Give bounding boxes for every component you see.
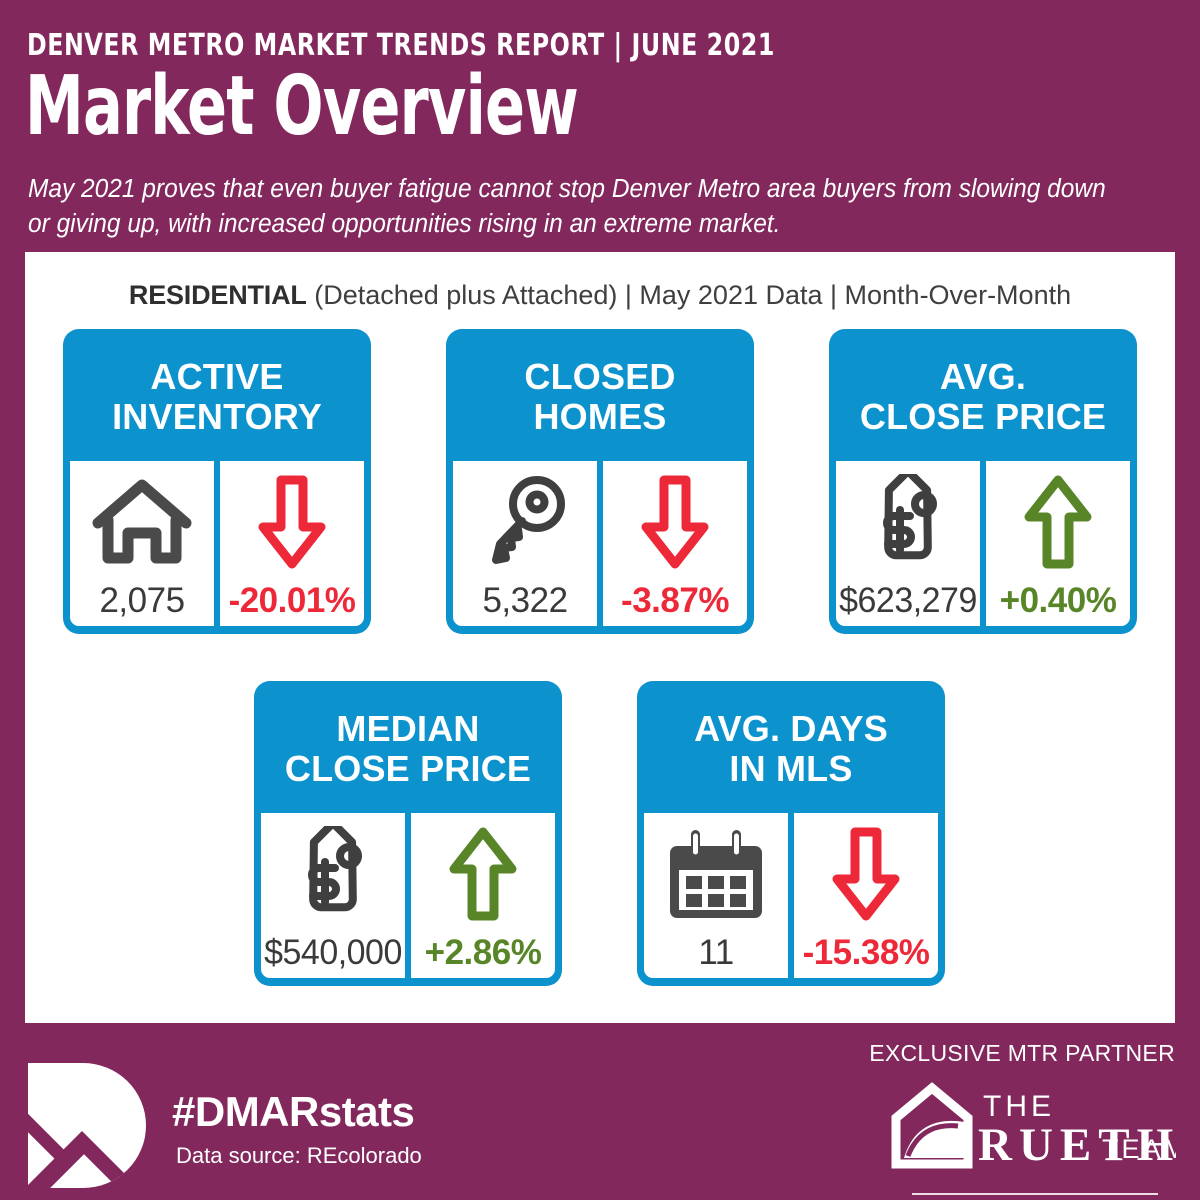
card-body: $540,000 +2.86% xyxy=(261,813,555,978)
card-body: 11 -15.38% xyxy=(644,813,938,978)
page-title: Market Overview xyxy=(25,66,578,148)
card-title: ACTIVE INVENTORY xyxy=(63,329,371,461)
card-value: 2,075 xyxy=(99,583,184,618)
panel-subtitle-strong: RESIDENTIAL xyxy=(129,280,307,310)
card-change-cell: -3.87% xyxy=(603,461,747,626)
card-value: $623,279 xyxy=(839,583,977,618)
card-change-cell: -15.38% xyxy=(794,813,938,978)
infographic-canvas: DENVER METRO MARKET TRENDS REPORT | JUNE… xyxy=(0,0,1200,1200)
card-value-cell: 2,075 xyxy=(70,461,214,626)
header-deck: May 2021 proves that even buyer fatigue … xyxy=(28,172,1113,242)
card-value-cell: 5,322 xyxy=(453,461,597,626)
arrow-up-icon xyxy=(411,813,555,935)
svg-text:TEAM: TEAM xyxy=(1102,1134,1176,1164)
card-title: CLOSED HOMES xyxy=(446,329,754,461)
partner-label: EXCLUSIVE MTR PARTNER xyxy=(869,1040,1175,1067)
card-title: AVG. CLOSE PRICE xyxy=(829,329,1137,461)
card-value: $540,000 xyxy=(264,935,402,970)
card-title: AVG. DAYS IN MLS xyxy=(637,681,945,813)
card-title-line2: INVENTORY xyxy=(112,397,322,437)
arrow-down-icon xyxy=(220,461,364,583)
card-title-line1: AVG. DAYS xyxy=(694,709,888,749)
card-change: -20.01% xyxy=(229,583,356,618)
arrow-up-icon xyxy=(986,461,1130,583)
card-value-cell: $623,279 xyxy=(836,461,980,626)
card-change-cell: +2.86% xyxy=(411,813,555,978)
card-change: +0.40% xyxy=(1000,583,1117,618)
card-change: -3.87% xyxy=(621,583,729,618)
card-title-line2: IN MLS xyxy=(729,749,852,789)
price-tag-icon xyxy=(261,813,405,935)
card-body: $623,279 +0.40% xyxy=(836,461,1130,626)
stat-card-avg-days-in-mls: AVG. DAYS IN MLS xyxy=(637,681,945,986)
card-body: 2,075 -20.01% xyxy=(70,461,364,626)
panel-subtitle: RESIDENTIAL (Detached plus Attached) | M… xyxy=(25,280,1175,311)
card-title: MEDIAN CLOSE PRICE xyxy=(254,681,562,813)
dmar-logo-icon xyxy=(28,1063,146,1193)
stat-card-median-close-price: MEDIAN CLOSE PRICE xyxy=(254,681,562,986)
hashtag-label: #DMARstats xyxy=(172,1088,414,1136)
card-change: -15.38% xyxy=(803,935,930,970)
stat-card-closed-homes: CLOSED HOMES 5,322 xyxy=(446,329,754,634)
card-title-line1: CLOSED xyxy=(524,357,675,397)
card-change-cell: +0.40% xyxy=(986,461,1130,626)
card-body: 5,322 -3.87% xyxy=(453,461,747,626)
card-value: 11 xyxy=(698,935,733,970)
card-value: 5,322 xyxy=(482,583,567,618)
report-kicker: DENVER METRO MARKET TRENDS REPORT | JUNE… xyxy=(27,28,775,63)
card-change: +2.86% xyxy=(425,935,542,970)
house-icon xyxy=(70,461,214,583)
rueth-house-icon xyxy=(896,1088,968,1164)
card-title-line1: MEDIAN xyxy=(336,709,479,749)
stat-card-avg-close-price: AVG. CLOSE PRICE xyxy=(829,329,1137,634)
card-title-line2: HOMES xyxy=(533,397,666,437)
stat-card-active-inventory: ACTIVE INVENTORY 2,075 xyxy=(63,329,371,634)
key-icon xyxy=(453,461,597,583)
panel-subtitle-rest: (Detached plus Attached) | May 2021 Data… xyxy=(307,280,1071,310)
calendar-icon xyxy=(644,813,788,935)
card-title-line2: CLOSE PRICE xyxy=(285,749,531,789)
card-value-cell: $540,000 xyxy=(261,813,405,978)
card-title-line2: CLOSE PRICE xyxy=(860,397,1106,437)
card-title-line1: ACTIVE xyxy=(150,357,283,397)
price-tag-icon xyxy=(836,461,980,583)
card-change-cell: -20.01% xyxy=(220,461,364,626)
card-title-line1: AVG. xyxy=(940,357,1026,397)
card-value-cell: 11 xyxy=(644,813,788,978)
data-source-label: Data source: REcolorado xyxy=(176,1143,422,1169)
stats-panel: RESIDENTIAL (Detached plus Attached) | M… xyxy=(25,252,1175,1023)
arrow-down-icon xyxy=(794,813,938,935)
rueth-team-logo: THE RUETH TEAM FAIRWAY INDEPENDENT MORTG… xyxy=(888,1078,1176,1200)
arrow-down-icon xyxy=(603,461,747,583)
